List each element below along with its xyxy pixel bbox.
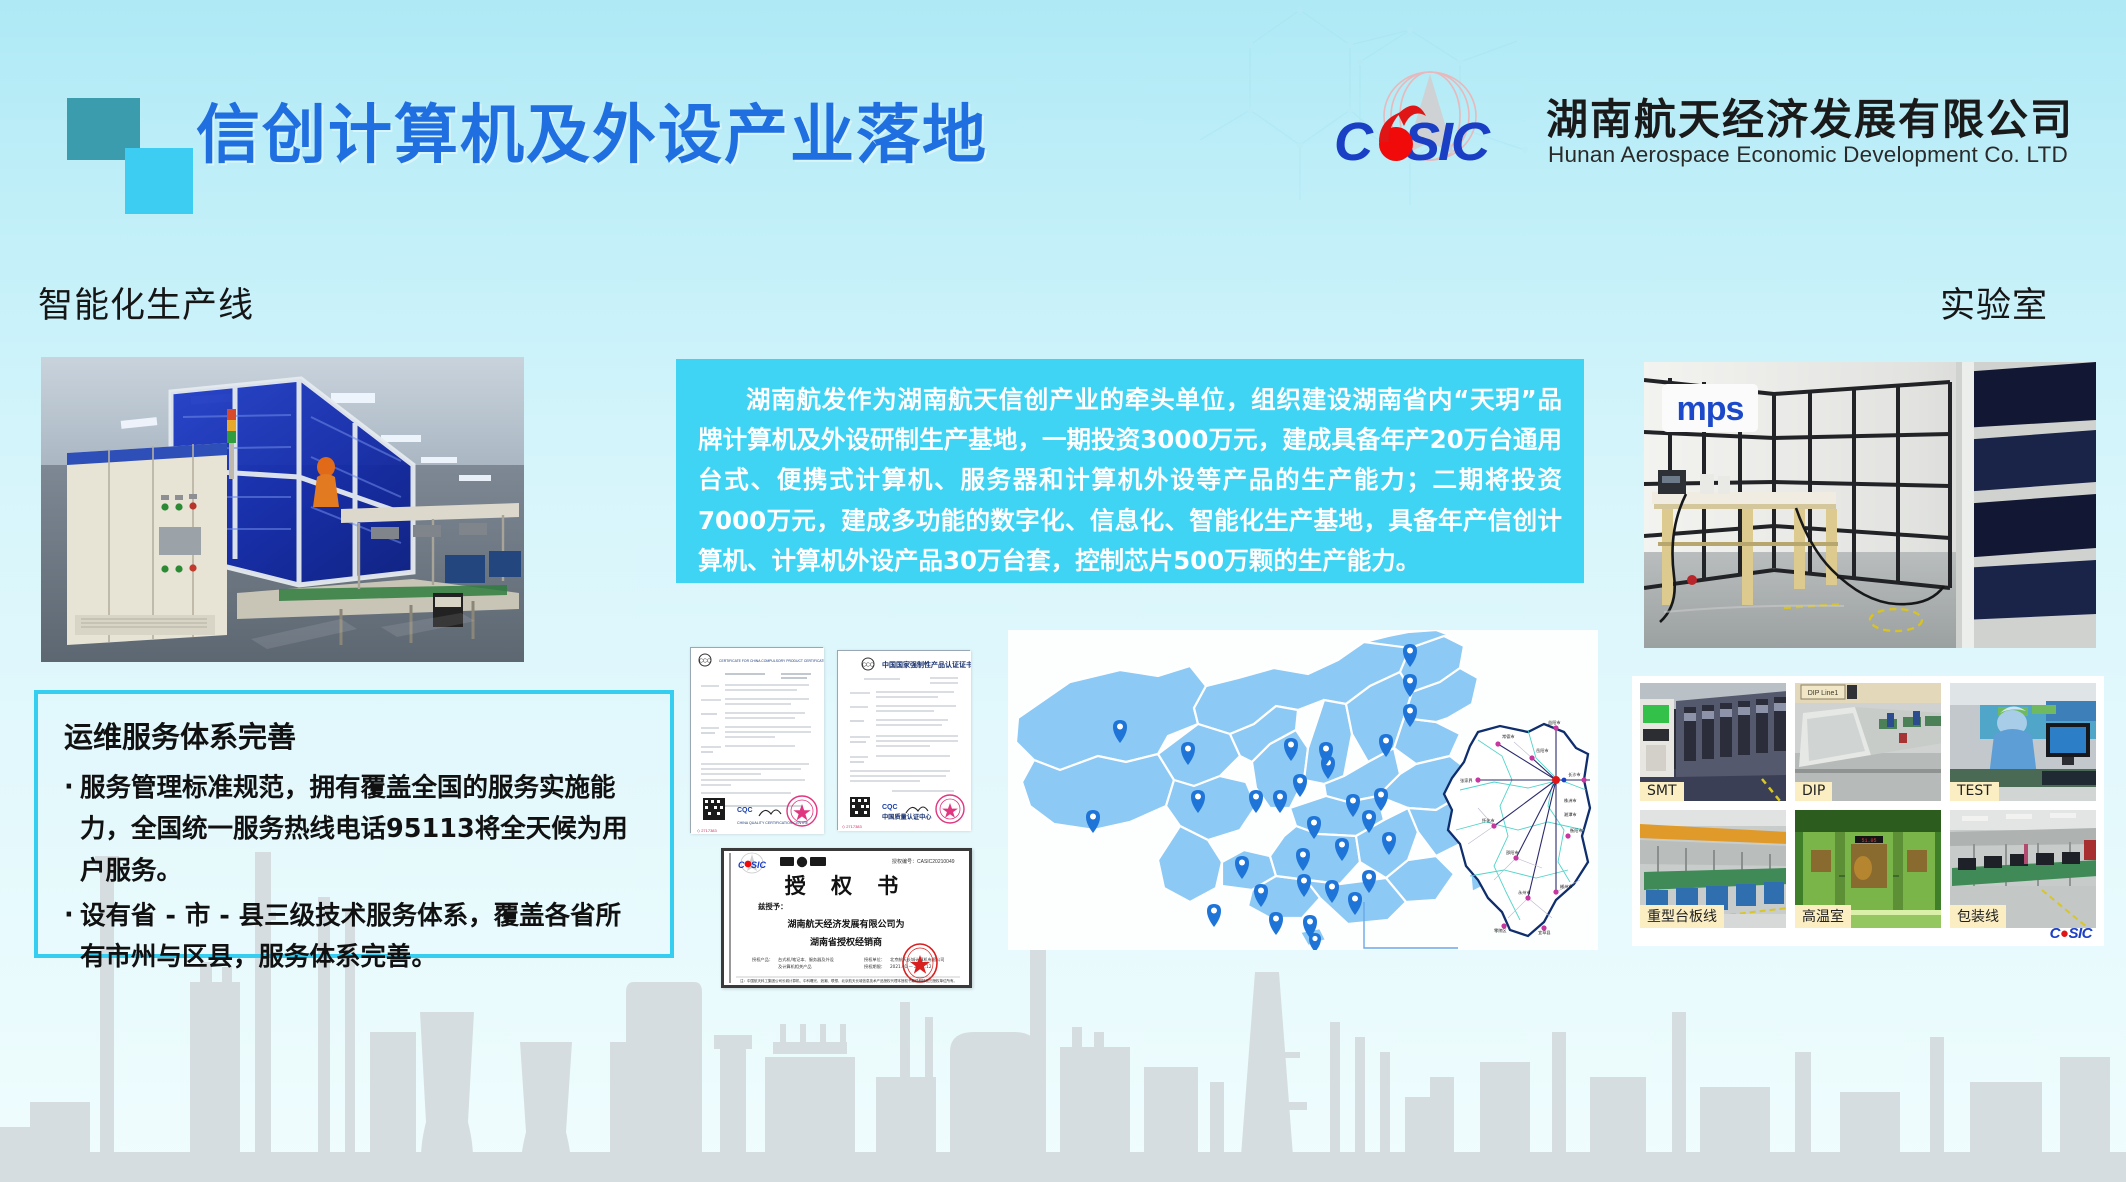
service-bullet-1: · 服务管理标准规范，拥有覆盖全国的服务实施能力，全国统一服务热线电话95113… bbox=[64, 768, 646, 892]
company-name-en: Hunan Aerospace Economic Development Co.… bbox=[1548, 142, 2068, 168]
grid-cosic-watermark: C●SIC bbox=[2050, 925, 2092, 942]
svg-text:台式机/笔记本、服务器及外设: 台式机/笔记本、服务器及外设 bbox=[778, 956, 835, 963]
factory-photo-grid: SMT DIP Line1 bbox=[1632, 676, 2104, 946]
svg-text:CQC: CQC bbox=[882, 804, 898, 811]
intro-paragraph: 湖南航发作为湖南航天信创产业的牵头单位，组织建设湖南省内“天玥”品牌计算机及外设… bbox=[698, 380, 1562, 581]
photo-grid-row: SMT DIP Line1 bbox=[1640, 683, 2096, 801]
svg-text:株洲市: 株洲市 bbox=[1564, 797, 1577, 804]
svg-text:中国国家强制性产品认证证书: 中国国家强制性产品认证证书 bbox=[882, 660, 971, 669]
svg-text:CCC: CCC bbox=[699, 659, 711, 665]
svg-text:湖南航天经济发展有限公司为: 湖南航天经济发展有限公司为 bbox=[787, 918, 904, 930]
svg-text:湘潭市: 湘潭市 bbox=[1564, 811, 1577, 818]
bullet-dot-icon: · bbox=[64, 896, 80, 979]
svg-text:及计算机相关产品: 及计算机相关产品 bbox=[778, 963, 812, 970]
service-bullet-1-text: 服务管理标准规范，拥有覆盖全国的服务实施能力，全国统一服务热线电话95113将全… bbox=[80, 768, 646, 892]
ccc-certificate-en: CCC CERTIFICATE FOR CHINA COMPULSORY PRO… bbox=[690, 647, 823, 833]
production-line-photo bbox=[41, 357, 524, 662]
svg-text:CHINA QUALITY CERTIFICATION CE: CHINA QUALITY CERTIFICATION CENTRE bbox=[737, 821, 809, 825]
svg-text:岳阳市: 岳阳市 bbox=[1536, 747, 1549, 754]
cosic-logo-icon: C SIC bbox=[1330, 68, 1530, 176]
svg-text:◇ 2717383: ◇ 2717383 bbox=[842, 824, 863, 829]
photo-cell-packaging-line: 包装线 bbox=[1950, 810, 2096, 928]
svg-text:C: C bbox=[1334, 112, 1374, 172]
svg-text:mps: mps bbox=[1677, 390, 1744, 428]
svg-text:湖南省授权经销商: 湖南省授权经销商 bbox=[810, 936, 882, 948]
photo-cell-dip: DIP Line1 DIP bbox=[1795, 683, 1941, 801]
photo-tag-high-temp-room: 高温室 bbox=[1795, 905, 1851, 928]
service-card-title: 运维服务体系完善 bbox=[64, 714, 646, 756]
photo-grid-row: 重型台板线 51.05 高温室 bbox=[1640, 810, 2096, 928]
svg-text:CCC: CCC bbox=[862, 663, 874, 669]
photo-cell-smt: SMT bbox=[1640, 683, 1786, 801]
section-heading-production-line: 智能化生产线 bbox=[38, 277, 254, 328]
intro-text-box: 湖南航发作为湖南航天信创产业的牵头单位，组织建设湖南省内“天玥”品牌计算机及外设… bbox=[676, 359, 1584, 583]
svg-text:衡阳市: 衡阳市 bbox=[1570, 827, 1583, 834]
svg-text:CQC: CQC bbox=[737, 807, 753, 814]
service-system-card: 运维服务体系完善 · 服务管理标准规范，拥有覆盖全国的服务实施能力，全国统一服务… bbox=[34, 690, 674, 958]
svg-text:◇ 2717383: ◇ 2717383 bbox=[697, 828, 718, 833]
photo-cell-heavy-bench-line: 重型台板线 bbox=[1640, 810, 1786, 928]
auth-doc-no: 授权编号：CASIC20210049 bbox=[892, 858, 955, 865]
svg-text:注：中国航天科工集团公司长城计算机、中科曙光、浪潮、联想、北: 注：中国航天科工集团公司长城计算机、中科曙光、浪潮、联想、北京航天长城信息技术产… bbox=[740, 978, 957, 983]
svg-text:怀化市: 怀化市 bbox=[1482, 817, 1495, 824]
photo-cell-test: TEST bbox=[1950, 683, 2096, 801]
svg-text:张家界: 张家界 bbox=[1460, 777, 1473, 784]
svg-text:兹授予：: 兹授予： bbox=[758, 902, 788, 911]
cosic-drop-icon: ● bbox=[2060, 925, 2069, 942]
section-heading-laboratory: 实验室 bbox=[1940, 277, 2048, 328]
svg-text:C: C bbox=[738, 860, 745, 870]
svg-text:宜章县: 宜章县 bbox=[1538, 929, 1551, 936]
laboratory-photo: mps bbox=[1644, 362, 2096, 648]
company-name-cn: 湖南航天经济发展有限公司 bbox=[1546, 86, 2074, 147]
photo-tag-test: TEST bbox=[1950, 782, 1999, 801]
header-square-cyan bbox=[125, 148, 193, 214]
svg-text:SIC: SIC bbox=[1404, 112, 1491, 172]
photo-tag-dip: DIP bbox=[1795, 782, 1832, 801]
svg-text:益阳市: 益阳市 bbox=[1548, 719, 1561, 726]
ccc-certificate-cn: CCC 中国国家强制性产品认证证书 bbox=[837, 650, 970, 830]
page-title: 信创计算机及外设产业落地 bbox=[196, 84, 988, 176]
service-bullet-2: · 设有省 - 市 - 县三级技术服务体系，覆盖各省所有市州与区县，服务体系完善… bbox=[64, 896, 646, 979]
svg-text:郴州市: 郴州市 bbox=[1560, 883, 1573, 890]
svg-text:中国质量认证中心: 中国质量认证中心 bbox=[882, 813, 932, 821]
page-header: 信创计算机及外设产业落地 C SIC 湖南航天经济发展有限公司 Hunan Ae… bbox=[0, 0, 2126, 200]
svg-text:零陵区: 零陵区 bbox=[1494, 927, 1507, 934]
svg-text:邵阳市: 邵阳市 bbox=[1506, 849, 1519, 856]
certificates-group: CCC CERTIFICATE FOR CHINA COMPULSORY PRO… bbox=[690, 647, 990, 1047]
svg-text:授权产品：: 授权产品： bbox=[752, 956, 773, 963]
svg-text:SIC: SIC bbox=[751, 860, 767, 870]
photo-cell-high-temp-room: 51.05 高温室 bbox=[1795, 810, 1941, 928]
china-service-coverage-map: 常德市岳阳市 张家界怀化市 邵阳市永州市 郴州市益阳市 长沙市衡阳市 零陵区宜章… bbox=[1008, 630, 1598, 950]
service-bullet-2-text: 设有省 - 市 - 县三级技术服务体系，覆盖各省所有市州与区县，服务体系完善。 bbox=[80, 896, 646, 979]
svg-text:长沙市: 长沙市 bbox=[1568, 771, 1581, 778]
svg-text:授权单位：: 授权单位： bbox=[864, 956, 885, 963]
svg-text:授权期限：: 授权期限： bbox=[864, 963, 885, 970]
bullet-dot-icon: · bbox=[64, 768, 80, 892]
authorization-certificate: C SIC 授权编号：CASIC20210049 授 权 书 兹授予： 湖南航天… bbox=[721, 848, 972, 988]
photo-tag-heavy-bench-line: 重型台板线 bbox=[1640, 905, 1724, 928]
svg-text:永州市: 永州市 bbox=[1518, 889, 1531, 896]
svg-text:51.05: 51.05 bbox=[1861, 838, 1876, 844]
svg-text:授 权 书: 授 权 书 bbox=[785, 874, 908, 898]
photo-tag-smt: SMT bbox=[1640, 782, 1684, 801]
svg-text:常德市: 常德市 bbox=[1502, 733, 1515, 740]
svg-text:CERTIFICATE FOR CHINA COMPULSO: CERTIFICATE FOR CHINA COMPULSORY PRODUCT… bbox=[719, 659, 824, 663]
svg-text:DIP Line1: DIP Line1 bbox=[1808, 690, 1839, 697]
photo-tag-packaging-line: 包装线 bbox=[1950, 905, 2006, 928]
